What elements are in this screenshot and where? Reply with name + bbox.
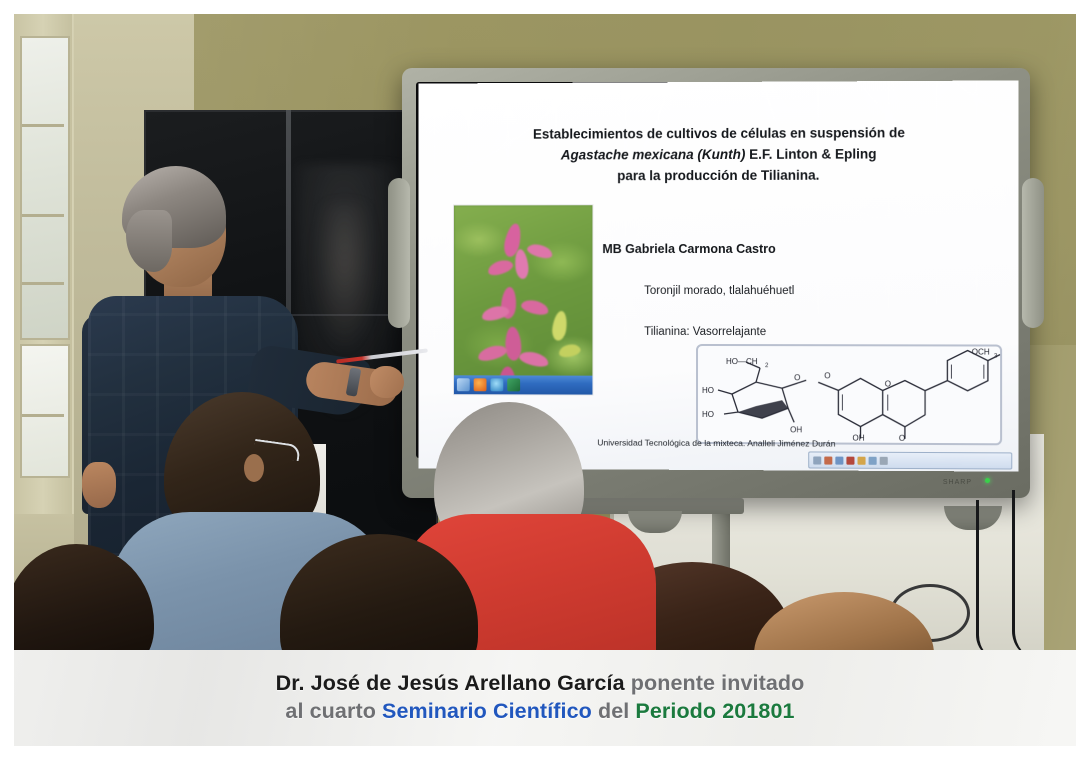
- slide-author: MB Gabriela Carmona Castro: [602, 242, 775, 256]
- svg-text:OCH: OCH: [972, 347, 990, 356]
- svg-text:2: 2: [765, 363, 769, 369]
- slide-common-name: Toronjil morado, tlalahuéhuetl: [644, 285, 794, 297]
- slide-effect: Tilianina: Vasorrelajante: [644, 326, 766, 338]
- start-orb-icon[interactable]: [457, 378, 470, 391]
- system-tray[interactable]: [808, 451, 1012, 469]
- event-connector: del: [592, 699, 636, 723]
- svg-text:O: O: [824, 371, 830, 380]
- svg-text:HO: HO: [702, 386, 714, 395]
- slide-title-species: Agastache mexicana (Kunth): [561, 147, 746, 163]
- seminar-photo: SHARP SHARP Establecimientos de cultivos…: [14, 14, 1076, 650]
- display-power-led: [985, 478, 990, 483]
- display-handle-right: [1022, 178, 1044, 328]
- window-mullion: [22, 282, 64, 285]
- slide-title: Establecimientos de cultivos de células …: [474, 123, 966, 187]
- window-pane-upper: [20, 36, 70, 340]
- svg-text:OH: OH: [790, 425, 802, 434]
- display-cable-1: [1012, 490, 1041, 650]
- svg-text:O: O: [794, 373, 800, 382]
- speaker-name: Dr. José de Jesús Arellano García: [276, 671, 625, 695]
- plant-photo: [453, 204, 593, 395]
- speaker-role: ponente invitado: [625, 671, 805, 695]
- clock-icon[interactable]: [869, 456, 877, 464]
- slide-credit: Universidad Tecnológica de la mixteca. A…: [597, 437, 835, 448]
- window-pane-lower: [20, 344, 70, 478]
- event-name: Seminario Científico: [382, 699, 592, 723]
- slide-title-line3: para la producción de Tilianina.: [617, 168, 819, 184]
- svg-text:OH: OH: [852, 434, 864, 443]
- excel-icon[interactable]: [507, 378, 520, 391]
- firefox-icon[interactable]: [474, 378, 487, 391]
- tilianin-structure: HO—CH2 HO HO OH O O O OH O OCH3: [696, 344, 1002, 445]
- battery-icon[interactable]: [835, 456, 843, 464]
- photo-frame: SHARP SHARP Establecimientos de cultivos…: [0, 0, 1090, 760]
- svg-text:HO: HO: [702, 410, 714, 419]
- network-icon[interactable]: [813, 456, 821, 464]
- caption-line-2: al cuarto Seminario Científico del Perio…: [38, 698, 1042, 726]
- presenter-left-hand: [82, 462, 116, 508]
- window-mullion: [22, 414, 64, 417]
- caption-line-1: Dr. José de Jesús Arellano García ponent…: [38, 670, 1042, 698]
- plant-foliage: [454, 205, 592, 394]
- svg-text:O: O: [885, 379, 891, 388]
- window-mullion: [22, 124, 64, 127]
- window-mullion: [22, 214, 64, 217]
- slide-title-line1: Establecimientos de cultivos de células …: [533, 125, 905, 141]
- shield-icon[interactable]: [846, 456, 854, 464]
- display-cable-2: [976, 500, 1001, 650]
- event-period: Periodo 201801: [635, 699, 794, 723]
- internet-explorer-icon[interactable]: [490, 378, 503, 391]
- audience-blue-shirt-ear: [244, 454, 264, 482]
- tray-overflow-icon[interactable]: [880, 456, 888, 464]
- slide-title-authority: E.F. Linton & Epling: [745, 146, 876, 161]
- cabinet-reflection-person: [314, 204, 376, 354]
- caption-text: Dr. José de Jesús Arellano García ponent…: [14, 670, 1076, 726]
- svg-text:O: O: [899, 434, 905, 443]
- event-prefix: al cuarto: [285, 699, 382, 723]
- volume-icon[interactable]: [824, 456, 832, 464]
- notification-icon[interactable]: [857, 456, 865, 464]
- windows-taskbar[interactable]: [454, 375, 593, 395]
- display-brand-bottom: SHARP: [943, 479, 972, 486]
- svg-text:HO—CH: HO—CH: [726, 357, 758, 366]
- display-handle-left: [388, 178, 410, 328]
- presenter-right-hand: [370, 366, 404, 398]
- caption-bar: Universidad Veracruzana Dr. José de Jesú…: [14, 650, 1076, 746]
